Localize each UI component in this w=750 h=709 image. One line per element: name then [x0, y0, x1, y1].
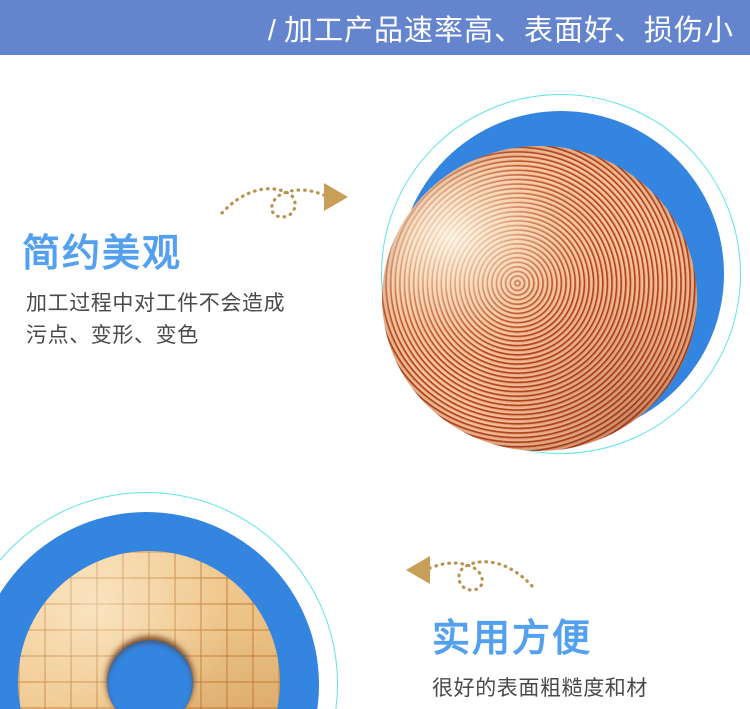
product-image-tan-grid-grinding-wheel	[0, 488, 350, 709]
feature-block-practical-convenient: 实用方便 很好的表面粗糙度和材	[432, 618, 648, 705]
feature-body-line-1: 加工过程中对工件不会造成	[26, 288, 285, 321]
banner-title: 加工产品速率高、表面好、损伤小	[284, 15, 734, 47]
feature-body-line-2: 污点、变形、变色	[26, 320, 285, 353]
arrow-left-icon	[392, 538, 538, 600]
arrow-right-icon	[216, 163, 352, 225]
banner-slash: /	[268, 15, 284, 47]
feature-block-simple-beautiful: 简约美观 加工过程中对工件不会造成 污点、变形、变色	[22, 233, 285, 353]
header-banner: /加工产品速率高、表面好、损伤小	[0, 0, 750, 55]
feature-headline-simple-beautiful: 简约美观	[22, 233, 285, 276]
copper-edge-shadow	[382, 146, 697, 451]
copper-disc-surface	[382, 146, 697, 451]
feature-headline-practical-convenient: 实用方便	[432, 618, 648, 661]
promo-page: /加工产品速率高、表面好、损伤小 简约美观 加工过程中对工件不会造成 污点、变形	[0, 0, 750, 709]
copper-highlight-sheen	[382, 146, 697, 451]
feature-body-line-3: 很好的表面粗糙度和材	[432, 673, 648, 706]
banner-title-row: /加工产品速率高、表面好、损伤小	[268, 7, 734, 49]
product-image-copper-grooved-disc	[375, 88, 750, 463]
